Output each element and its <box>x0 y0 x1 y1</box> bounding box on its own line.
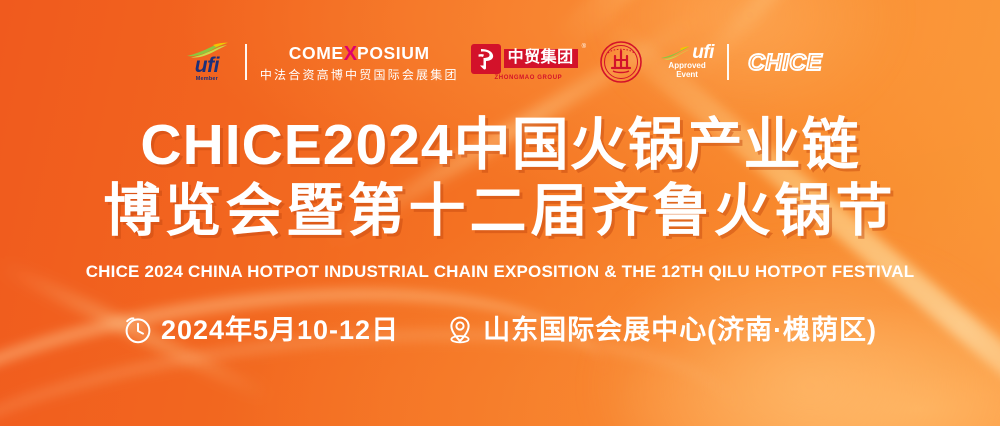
comexposium-word-part1: COME <box>289 45 344 63</box>
comexposium-x: X <box>344 44 357 64</box>
comexposium-chinese-name: 中法合资高博中贸国际会展集团 <box>260 69 459 81</box>
event-info-row: 2024年5月10-12日 山东国际会展中心(济南·槐荫区) <box>0 315 1000 345</box>
sponsor-logo-bar: ufi Member COME X POSIUM 中法合资高博中贸国际会展集团 <box>0 34 1000 90</box>
event-venue-text: 山东国际会展中心(济南·槐荫区) <box>483 317 877 344</box>
logo-divider-1 <box>245 44 247 80</box>
headline-line-1: CHICE2024中国火锅产业链 <box>0 112 1000 178</box>
logo-ufi-approved-event: ufi Approved Event <box>642 34 718 90</box>
zhongmao-english: ZHONGMAO GROUP <box>495 75 563 81</box>
logo-chice: CHICE <box>738 34 822 90</box>
zhongmao-chinese: 中贸集团 <box>504 49 578 69</box>
ufi-member-sub: Member <box>196 77 218 83</box>
event-venue: 山东国际会展中心(济南·槐荫区) <box>445 315 877 345</box>
seal-emblem-icon <box>600 41 642 83</box>
headline-line-2: 博览会暨第十二届齐鲁火锅节 <box>0 178 1000 244</box>
location-pin-icon <box>445 315 475 345</box>
event-banner: ufi Member COME X POSIUM 中法合资高博中贸国际会展集团 <box>0 0 1000 426</box>
ufi-member-wordmark: ufi <box>195 57 219 76</box>
event-date: 2024年5月10-12日 <box>123 315 399 345</box>
logo-ufi-member: ufi Member <box>178 34 236 90</box>
logo-comexposium: COME X POSIUM 中法合资高博中贸国际会展集团 <box>256 34 459 90</box>
headline-subtitle-english: CHICE 2024 CHINA HOTPOT INDUSTRIAL CHAIN… <box>0 262 1000 282</box>
logo-divider-2 <box>727 44 729 80</box>
comexposium-word-part2: POSIUM <box>357 45 430 63</box>
ufi-approved-wordmark: ufi <box>692 45 714 61</box>
ufi-approved-line2: Event <box>668 71 705 79</box>
ufi-wing-icon <box>660 46 690 61</box>
zhongmao-mark-icon <box>471 44 501 74</box>
banner-content: ufi Member COME X POSIUM 中法合资高博中贸国际会展集团 <box>0 0 1000 426</box>
clock-icon <box>123 315 153 345</box>
logo-zhongmao-group: 中贸集团 ® ZHONGMAO GROUP <box>459 34 586 90</box>
logo-association-seal <box>586 34 642 90</box>
chice-wordmark: CHICE <box>748 51 822 74</box>
event-date-text: 2024年5月10-12日 <box>161 317 399 344</box>
headline-block: CHICE2024中国火锅产业链 博览会暨第十二届齐鲁火锅节 <box>0 112 1000 244</box>
